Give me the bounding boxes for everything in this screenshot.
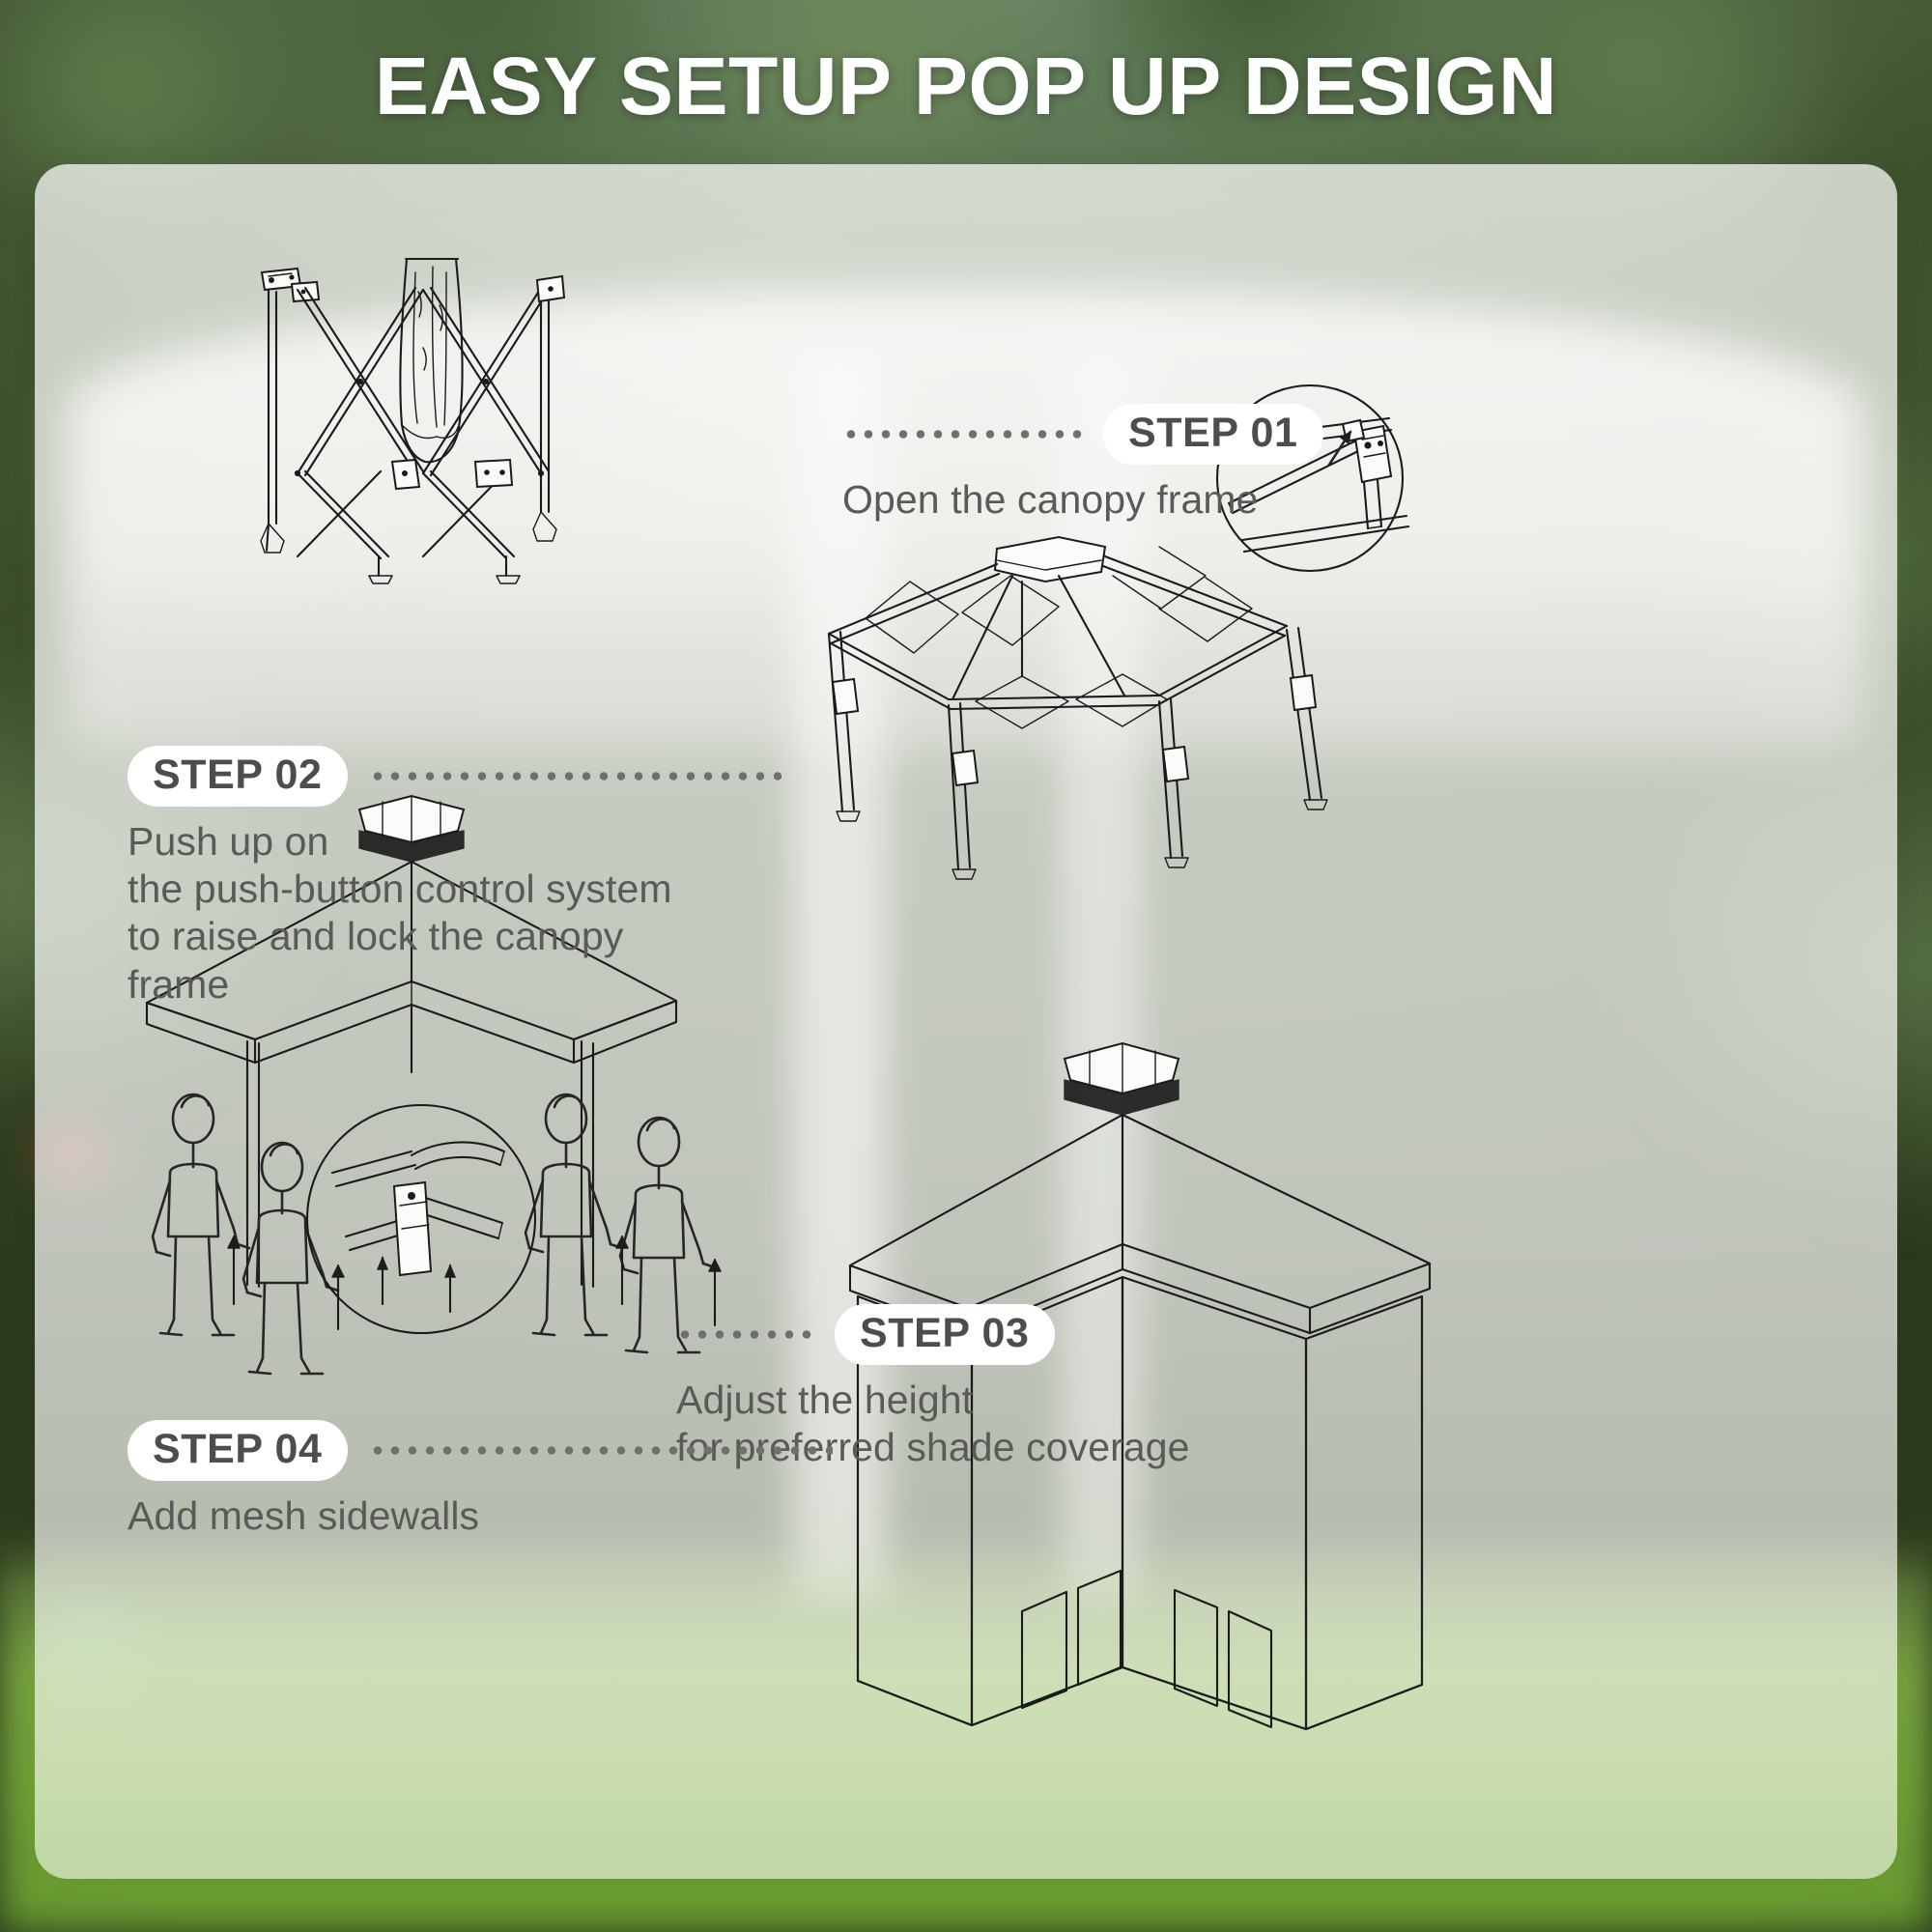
dotted-leader-icon [369,1446,833,1455]
step-03-badge: STEP 03 [835,1304,1055,1365]
step-03-header: STEP 03 [676,1304,1190,1365]
folded-canopy-frame-illustration [209,184,614,589]
step-01-badge: STEP 01 [1103,404,1323,465]
step-02-header: STEP 02 [128,746,786,807]
step-01-description: Open the canopy frame [842,476,1323,524]
step-04-block: STEP 04 Add mesh sidewalls [128,1420,833,1540]
page-title: EASY SETUP POP UP DESIGN [0,43,1932,128]
step-04-description: Add mesh sidewalls [128,1492,833,1540]
dotted-leader-icon [842,430,1082,439]
step-02-badge: STEP 02 [128,746,348,807]
expanded-canopy-frame-illustration [769,522,1368,937]
step-01-header: STEP 01 [842,404,1323,465]
instructions-panel: STEP 01 Open the canopy frame STEP 02 Pu… [35,164,1897,1879]
step-04-badge: STEP 04 [128,1420,348,1481]
step-02-block: STEP 02 Push up on the push-button contr… [128,746,786,1009]
step-04-header: STEP 04 [128,1420,833,1481]
step-01-block: STEP 01 Open the canopy frame [842,404,1323,524]
dotted-leader-icon [369,772,786,781]
step-02-description: Push up on the push-button control syste… [128,818,786,1009]
dotted-leader-icon [676,1330,813,1339]
